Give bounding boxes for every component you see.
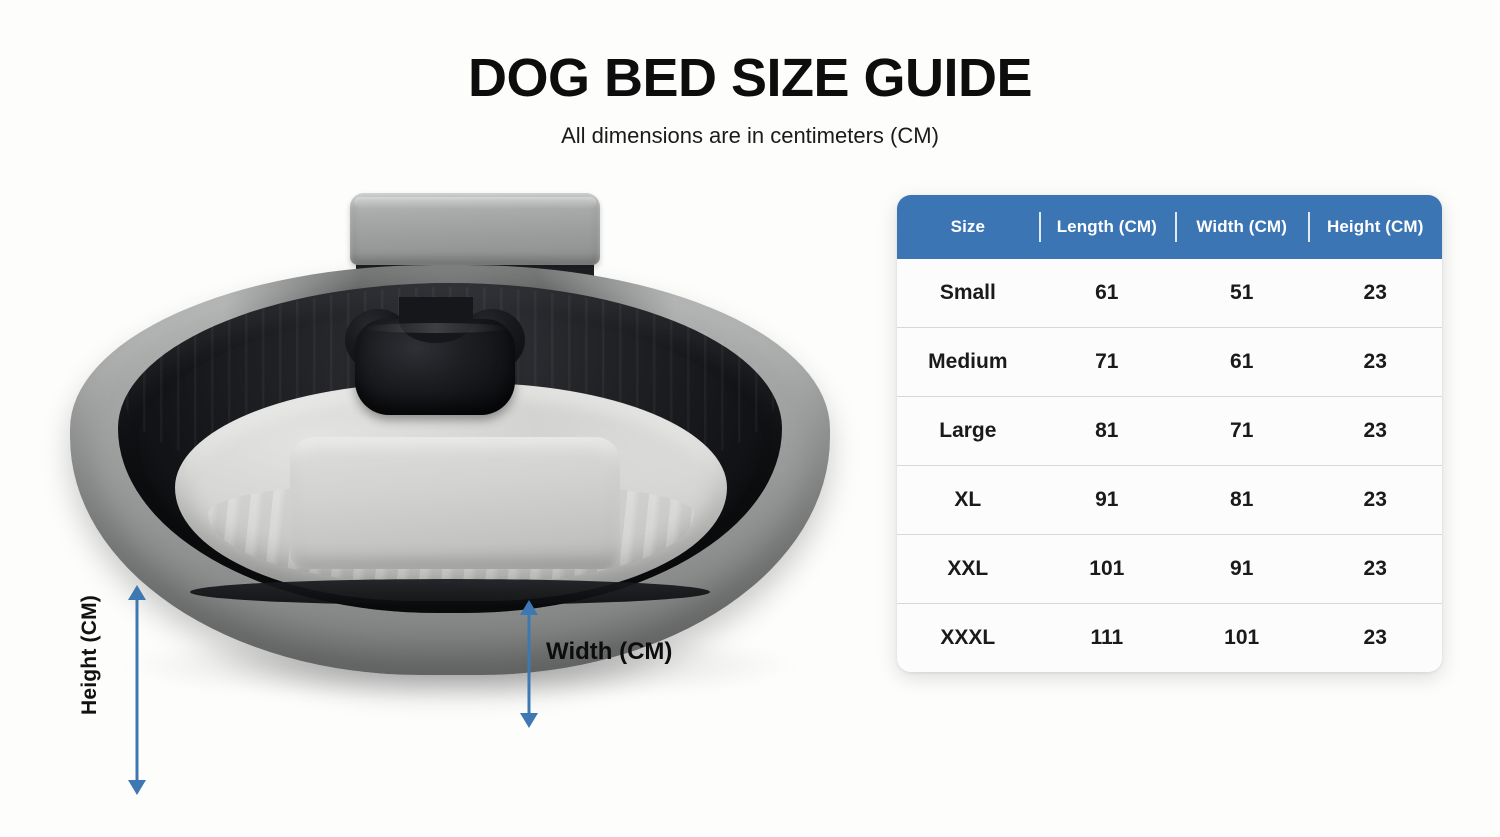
cell-length: 81 (1039, 397, 1175, 466)
table-row: XXL 101 91 23 (897, 535, 1442, 604)
column-header-width: Width (CM) (1175, 195, 1309, 259)
column-header-size: Size (897, 195, 1039, 259)
cell-height: 23 (1308, 466, 1442, 535)
size-table-body: Small 61 51 23 Medium 71 61 23 Large 81 … (897, 259, 1442, 672)
page-title: DOG BED SIZE GUIDE (0, 50, 1500, 107)
product-illustration: Height (CM) Width (CM) Length (CM) (40, 175, 870, 775)
cell-height: 23 (1308, 397, 1442, 466)
bone-notch (399, 297, 473, 343)
size-table-card: Size Length (CM) Width (CM) Height (CM) … (897, 195, 1442, 672)
cell-height: 23 (1308, 535, 1442, 604)
cell-length: 61 (1039, 259, 1175, 328)
column-header-height: Height (CM) (1308, 195, 1442, 259)
bone-pillow (345, 303, 525, 421)
width-arrow-icon (518, 600, 540, 728)
table-row: Small 61 51 23 (897, 259, 1442, 328)
height-arrow-icon (126, 585, 148, 795)
table-row: Large 81 71 23 (897, 397, 1442, 466)
cell-size: Large (897, 397, 1039, 466)
table-row: XL 91 81 23 (897, 466, 1442, 535)
size-guide-page: DOG BED SIZE GUIDE All dimensions are in… (0, 0, 1500, 837)
cell-width: 61 (1175, 328, 1309, 397)
table-row: XXXL 111 101 23 (897, 604, 1442, 673)
bed-front-lip (190, 579, 710, 605)
cell-width: 81 (1175, 466, 1309, 535)
bone-highlight (363, 323, 509, 333)
arrow-line-icon (528, 608, 531, 720)
dog-bed-photo (40, 175, 870, 695)
cell-size: Medium (897, 328, 1039, 397)
page-header: DOG BED SIZE GUIDE All dimensions are in… (0, 0, 1500, 149)
size-table-head: Size Length (CM) Width (CM) Height (CM) (897, 195, 1442, 259)
width-label: Width (CM) (546, 638, 672, 666)
cell-width: 71 (1175, 397, 1309, 466)
cell-height: 23 (1308, 328, 1442, 397)
cell-width: 101 (1175, 604, 1309, 673)
column-header-length: Length (CM) (1039, 195, 1175, 259)
arrow-line-icon (136, 593, 139, 787)
cell-height: 23 (1308, 604, 1442, 673)
cell-length: 101 (1039, 535, 1175, 604)
cell-height: 23 (1308, 259, 1442, 328)
cell-length: 111 (1039, 604, 1175, 673)
bed-center-mat (290, 437, 620, 569)
cell-size: XXXL (897, 604, 1039, 673)
cell-size: XXL (897, 535, 1039, 604)
table-row: Medium 71 61 23 (897, 328, 1442, 397)
cell-length: 71 (1039, 328, 1175, 397)
page-subtitle: All dimensions are in centimeters (CM) (0, 123, 1500, 149)
height-label: Height (CM) (78, 595, 102, 715)
table-header-row: Size Length (CM) Width (CM) Height (CM) (897, 195, 1442, 259)
cell-width: 51 (1175, 259, 1309, 328)
arrow-head-down-icon (520, 713, 538, 728)
cell-size: Small (897, 259, 1039, 328)
cell-length: 91 (1039, 466, 1175, 535)
cell-width: 91 (1175, 535, 1309, 604)
cell-size: XL (897, 466, 1039, 535)
headrest-bolster (350, 193, 600, 265)
arrow-head-down-icon (128, 780, 146, 795)
size-table: Size Length (CM) Width (CM) Height (CM) … (897, 195, 1442, 672)
